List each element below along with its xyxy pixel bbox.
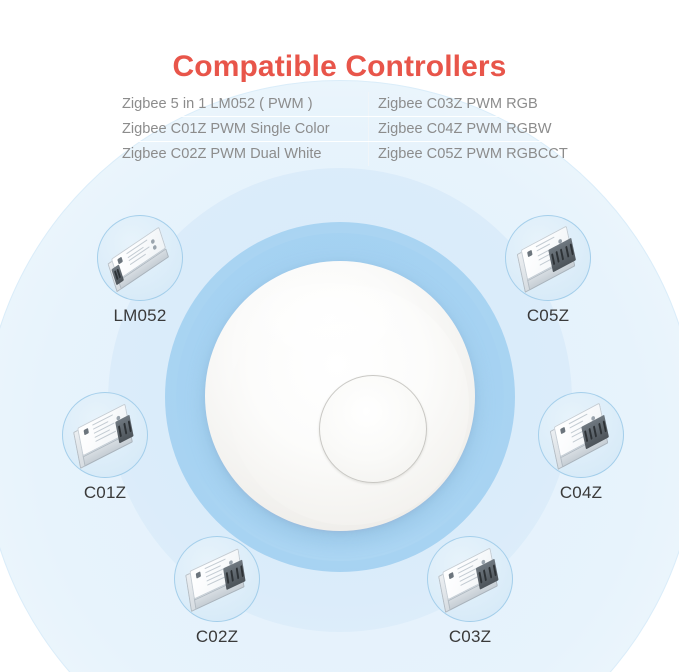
table-cell-left: Zigbee C02Z PWM Dual White	[113, 142, 369, 167]
node-c03z: C03Z	[418, 536, 522, 647]
device-print-line	[127, 239, 148, 254]
device-qr-code	[560, 427, 565, 434]
table-row: Zigbee C02Z PWM Dual White Zigbee C05Z P…	[113, 142, 583, 167]
node-label: LM052	[88, 306, 192, 326]
compatible-controllers-table: Zigbee 5 in 1 LM052 ( PWM ) Zigbee C03Z …	[113, 92, 583, 166]
zigbee-controller-c01z	[105, 435, 159, 473]
node-circle	[62, 392, 148, 478]
device-body	[77, 403, 133, 466]
node-label: C04Z	[529, 483, 633, 503]
node-c02z: C02Z	[165, 536, 269, 647]
table-cell-right: Zigbee C03Z PWM RGB	[369, 92, 584, 117]
node-label: C02Z	[165, 627, 269, 647]
node-label: C05Z	[496, 306, 600, 326]
node-circle	[538, 392, 624, 478]
device-body	[554, 402, 609, 467]
zigbee-controller-c03z	[470, 579, 524, 617]
table-row: Zigbee C01Z PWM Single Color Zigbee C04Z…	[113, 117, 583, 142]
hub-center-button	[319, 375, 427, 483]
node-circle	[174, 536, 260, 622]
node-label: C01Z	[53, 483, 157, 503]
page-title: Compatible Controllers	[0, 50, 679, 84]
device-body	[111, 226, 169, 289]
node-c05z: C05Z	[496, 215, 600, 326]
node-circle	[97, 215, 183, 301]
node-c01z: C01Z	[53, 392, 157, 503]
node-c04z: C04Z	[529, 392, 633, 503]
table-cell-left: Zigbee 5 in 1 LM052 ( PWM )	[113, 92, 369, 117]
device-qr-code	[527, 250, 532, 257]
central-smart-hub	[196, 253, 484, 541]
node-label: C03Z	[418, 627, 522, 647]
device-qr-code	[118, 256, 124, 264]
hub-body	[205, 261, 475, 531]
table-row: Zigbee 5 in 1 LM052 ( PWM ) Zigbee C03Z …	[113, 92, 583, 117]
header: Compatible Controllers	[0, 0, 679, 84]
device-qr-code	[448, 572, 453, 579]
device-qr-code	[196, 571, 201, 578]
product-infographic: Compatible Controllers Zigbee 5 in 1 LM0…	[0, 0, 679, 672]
node-lm052: LM052	[88, 215, 192, 326]
zigbee-controller-lm052	[140, 258, 198, 289]
device-body	[442, 547, 498, 610]
hub-highlight	[245, 283, 415, 373]
device-body	[521, 225, 576, 290]
zigbee-controller-c02z	[217, 579, 271, 617]
device-qr-code	[83, 428, 88, 435]
table-cell-left: Zigbee C01Z PWM Single Color	[113, 117, 369, 142]
device-certification-mark	[152, 244, 157, 250]
device-body	[189, 548, 244, 610]
zigbee-controller-c05z	[548, 258, 600, 298]
zigbee-controller-c04z	[581, 435, 633, 475]
node-circle	[505, 215, 591, 301]
node-circle	[427, 536, 513, 622]
table-cell-right: Zigbee C04Z PWM RGBW	[369, 117, 584, 142]
device-certification-mark	[150, 238, 155, 244]
table-cell-right: Zigbee C05Z PWM RGBCCT	[369, 142, 584, 167]
